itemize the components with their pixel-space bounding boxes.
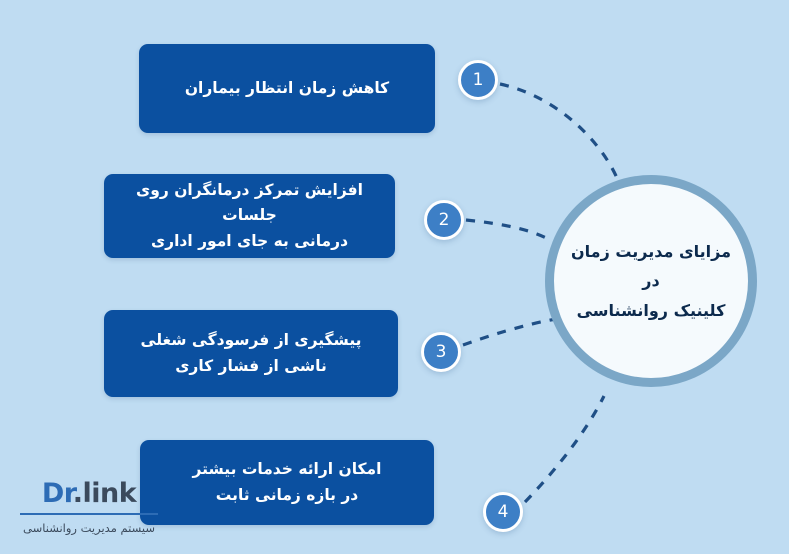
central-hub-title: مزایای مدیریت زمان در کلینیک روانشناسی	[555, 237, 747, 326]
connector-line-3	[463, 318, 563, 345]
logo-tagline: سیستم مدیریت روانشناسی	[14, 521, 164, 536]
benefit-box-4-text: امکان ارائه خدمات بیشتر در بازه زمانی ثا…	[193, 457, 382, 507]
benefit-box-2[interactable]: افزایش تمرکز درمانگران روی جلسات درمانی …	[104, 174, 395, 258]
logo-wordmark: Dr.link	[14, 480, 164, 508]
step-marker-4[interactable]: 4	[483, 492, 523, 532]
step-marker-1-number: 1	[473, 72, 484, 89]
central-hub-circle: مزایای مدیریت زمان در کلینیک روانشناسی	[545, 175, 757, 387]
logo-wordmark-primary: Dr	[42, 478, 73, 509]
step-marker-3-number: 3	[436, 344, 447, 361]
benefit-box-1-text: کاهش زمان انتظار بیماران	[185, 76, 389, 101]
step-marker-2[interactable]: 2	[424, 200, 464, 240]
logo-divider	[20, 513, 158, 515]
step-marker-4-number: 4	[498, 504, 509, 521]
infographic-canvas: کاهش زمان انتظار بیماران افزایش تمرکز در…	[0, 0, 789, 554]
connector-line-1	[500, 84, 617, 178]
benefit-box-1[interactable]: کاهش زمان انتظار بیماران	[139, 44, 435, 133]
benefit-box-2-text: افزایش تمرکز درمانگران روی جلسات درمانی …	[122, 178, 377, 253]
step-marker-3[interactable]: 3	[421, 332, 461, 372]
step-marker-1[interactable]: 1	[458, 60, 498, 100]
brand-logo: Dr.link سیستم مدیریت روانشناسی	[14, 480, 164, 536]
connector-line-2	[466, 220, 552, 241]
benefit-box-3[interactable]: پیشگیری از فرسودگی شغلی ناشی از فشار کار…	[104, 310, 398, 397]
benefit-box-3-text: پیشگیری از فرسودگی شغلی ناشی از فشار کار…	[141, 328, 362, 378]
benefit-box-4[interactable]: امکان ارائه خدمات بیشتر در بازه زمانی ثا…	[140, 440, 434, 525]
logo-wordmark-secondary: .link	[73, 478, 136, 509]
connector-line-4	[525, 396, 604, 502]
step-marker-2-number: 2	[439, 212, 450, 229]
